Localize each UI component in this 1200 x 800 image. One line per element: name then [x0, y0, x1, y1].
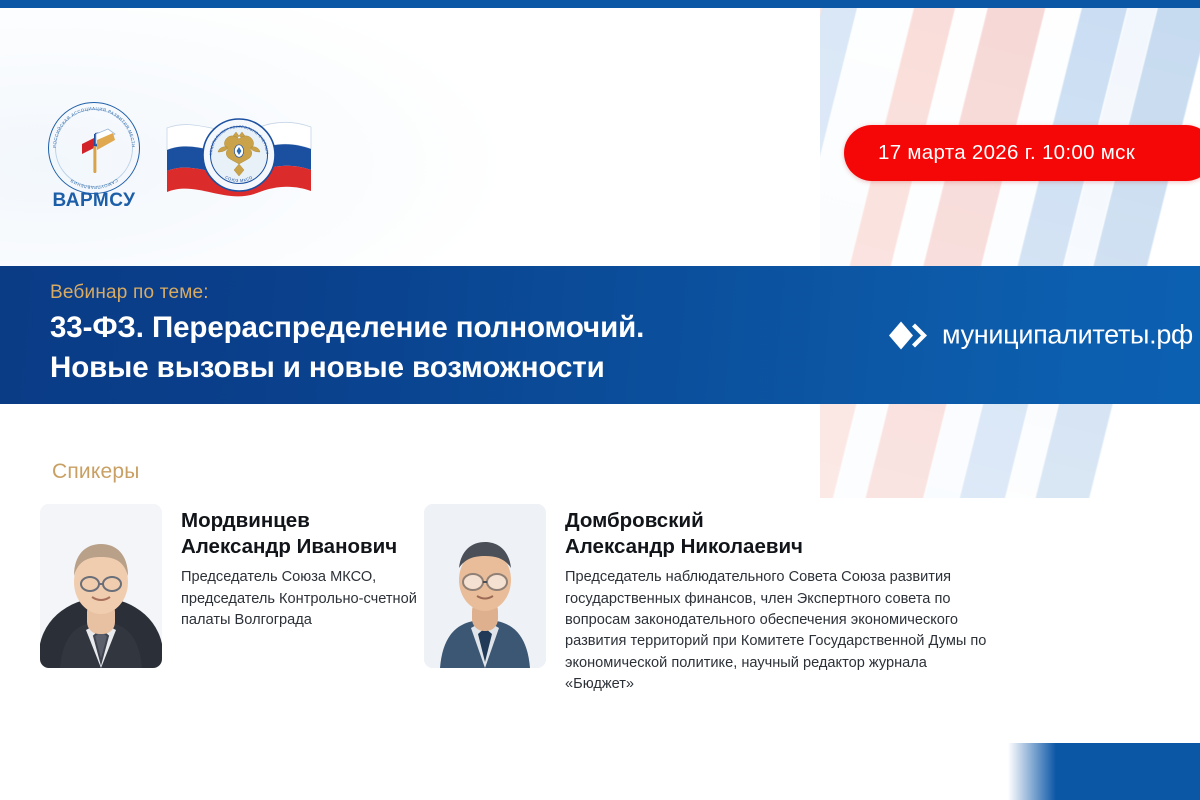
- speaker-2-info: Домбровский Александр Николаевич Председ…: [546, 504, 997, 696]
- bottom-blue-strip: [0, 743, 1200, 800]
- speaker-2-name-line-1: Домбровский: [565, 508, 997, 534]
- title-banner: Вебинар по теме: 33-ФЗ. Перераспределени…: [0, 266, 1200, 404]
- banner-title-line-1: 33-ФЗ. Перераспределение полномочий.: [50, 308, 644, 348]
- varmsu-emblem-icon: [70, 124, 120, 176]
- svg-text:САМОУПРАВЛЕНИЯ: САМОУПРАВЛЕНИЯ: [69, 178, 119, 190]
- speaker-1-info: Мордвинцев Александр Иванович Председате…: [162, 504, 431, 668]
- speaker-1-name-line-1: Мордвинцев: [181, 508, 431, 534]
- title-banner-text: Вебинар по теме: 33-ФЗ. Перераспределени…: [0, 282, 644, 387]
- varmsu-wordmark: ВАРМСУ: [42, 190, 146, 212]
- speaker-2-portrait: [424, 504, 546, 668]
- webinar-poster: ВСЕРОССИЙСКАЯ АССОЦИАЦИЯ РАЗВИТИЯ МЕСТНО…: [0, 8, 1200, 743]
- speaker-1-name-line-2: Александр Иванович: [181, 534, 431, 560]
- speaker-1-role: Председатель Союза МКСО, председатель Ко…: [181, 567, 431, 631]
- banner-eyebrow: Вебинар по теме:: [50, 282, 644, 304]
- speaker-2-name-line-2: Александр Николаевич: [565, 534, 997, 560]
- speaker-1-portrait: [40, 504, 162, 668]
- speakers-section: Спикеры: [0, 404, 1200, 743]
- speaker-2-role: Председатель наблюдательного Совета Союз…: [565, 567, 997, 696]
- poster-header: ВСЕРОССИЙСКАЯ АССОЦИАЦИЯ РАЗВИТИЯ МЕСТНО…: [0, 8, 1200, 266]
- soyuz-mkso-logo: СОЮЗ МУНИЦИПАЛЬНЫХ КОНТРОЛЬНО-СЧЕТНЫХ ОР…: [163, 106, 315, 204]
- speaker-card-1: Мордвинцев Александр Иванович Председате…: [40, 504, 431, 668]
- varmsu-logo: ВСЕРОССИЙСКАЯ АССОЦИАЦИЯ РАЗВИТИЯ МЕСТНО…: [42, 102, 146, 214]
- speakers-label: Спикеры: [52, 460, 140, 484]
- brand-name-text: муниципалитеты.рф: [942, 320, 1193, 351]
- date-badge: 17 марта 2026 г. 10:00 мск: [844, 125, 1200, 181]
- municipalitety-brand[interactable]: муниципалитеты.рф: [888, 320, 1193, 351]
- date-badge-text: 17 марта 2026 г. 10:00 мск: [878, 141, 1135, 165]
- diamond-chevron-icon: [888, 320, 930, 350]
- banner-title-line-2: Новые вызовы и новые возможности: [50, 348, 644, 388]
- speaker-card-2: Домбровский Александр Николаевич Председ…: [424, 504, 997, 696]
